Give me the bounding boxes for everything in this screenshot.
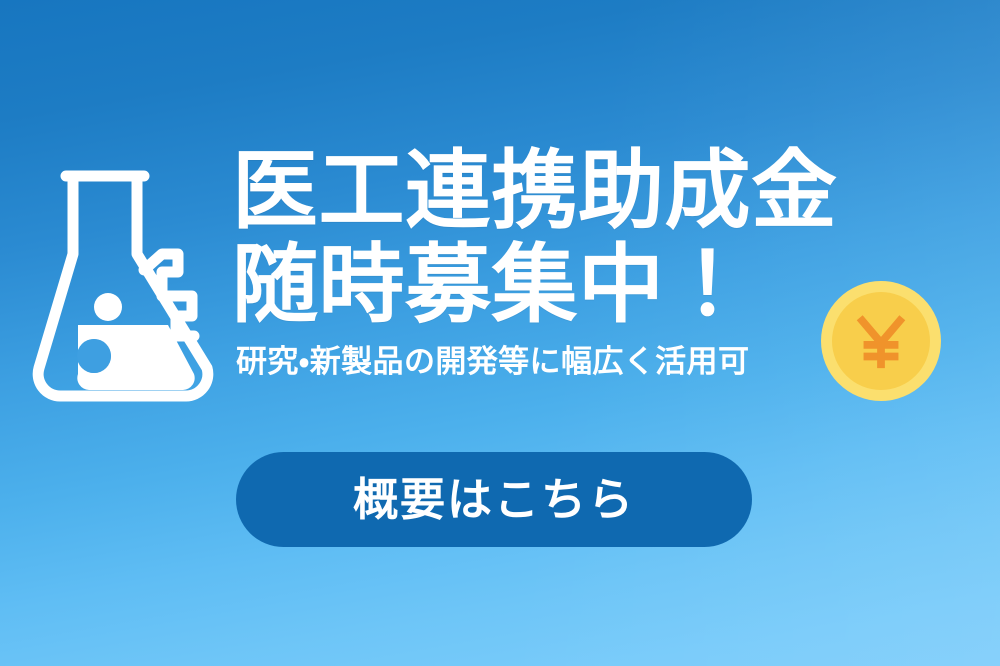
headline-line-2: 随時募集中！	[232, 242, 852, 330]
erlenmeyer-flask-icon	[26, 150, 231, 420]
headline-line-1: 医工連携助成金	[232, 148, 852, 236]
promo-banner: 医工連携助成金 随時募集中！ 研究・新製品の開発等に幅広く活用可 概要はこちら	[0, 0, 1000, 666]
subheadline: 研究・新製品の開発等に幅広く活用可	[236, 345, 852, 379]
cta-button[interactable]: 概要はこちら	[236, 452, 752, 547]
headline-block: 医工連携助成金 随時募集中！ 研究・新製品の開発等に幅広く活用可	[232, 148, 852, 380]
coin-face	[832, 292, 930, 390]
yen-coin-icon	[821, 281, 941, 401]
